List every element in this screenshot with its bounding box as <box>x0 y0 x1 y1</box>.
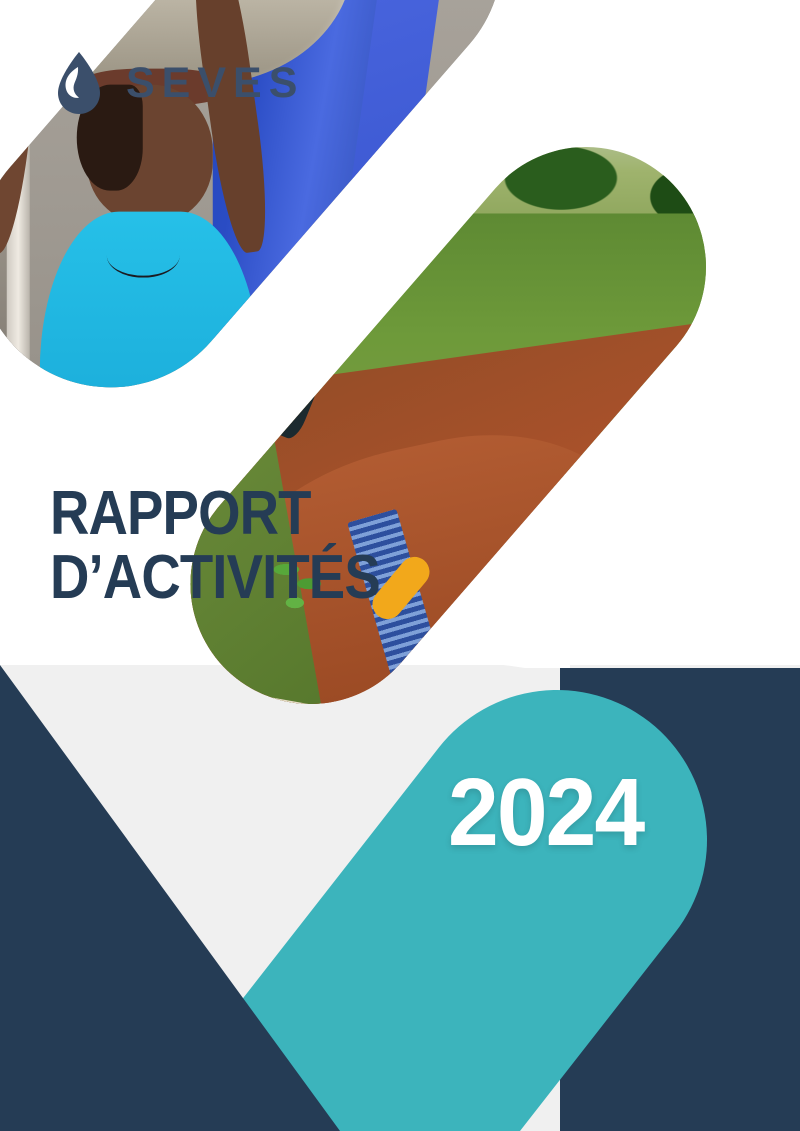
brand-wordmark: SEVES <box>126 62 304 105</box>
water-drop-icon <box>52 50 106 116</box>
brand-logo: SEVES <box>52 50 304 116</box>
title-line-1: RAPPORT <box>50 482 420 546</box>
necklace <box>107 233 180 277</box>
cover-year: 2024 <box>448 765 643 861</box>
title-line-2: D’ACTIVITÉS <box>50 546 420 610</box>
report-cover-page: SEVES RAPPORT D’ACTIVITÉS 2024 <box>0 0 800 1131</box>
